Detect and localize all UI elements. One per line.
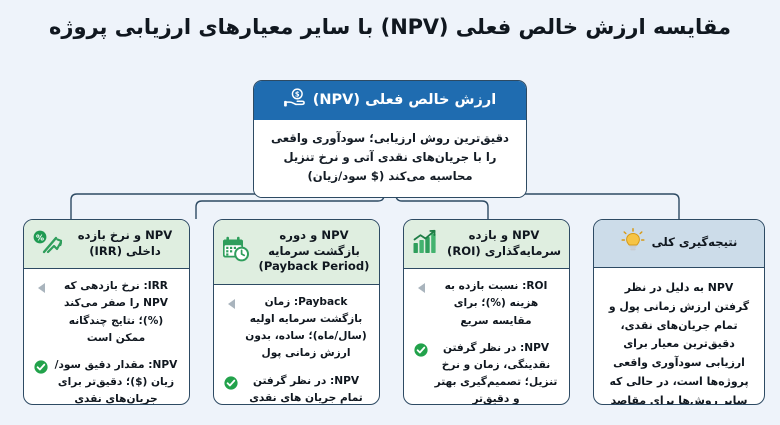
svg-text:%: % [36,233,44,242]
check-circle-icon [414,343,428,357]
card-roi-header: NPV و بازده سرمایه‌گذاری (ROI) [404,220,569,269]
list-item: NPV: مقدار دقیق سود/زیان ($)؛ دقیق‌تر بر… [34,357,179,405]
card-irr-header: % NPV و نرخ بازده داخلی (IRR) [24,220,189,269]
card-roi-body: ROI: نسبت بازده به هزینه (%)؛ برای مقایس… [404,269,569,405]
root-node-npv: $ ارزش خالص فعلی (NPV) دقیق‌ترین روش ارز… [253,80,527,198]
card-payback-title: NPV و دوره بازگشت سرمایه (Payback Period… [257,228,371,275]
root-node-description: دقیق‌ترین روش ارزیابی؛ سودآوری واقعی را … [254,120,526,197]
hand-holding-dollar-icon: $ [284,88,306,112]
list-item: IRR: نرخ بازدهی که NPV را صفر می‌کند (%)… [34,278,179,347]
list-item: ROI: نسبت بازده به هزینه (%)؛ برای مقایس… [414,278,559,329]
card-irr-body: IRR: نرخ بازدهی که NPV را صفر می‌کند (%)… [24,269,189,405]
card-payback-header: NPV و دوره بازگشت سرمایه (Payback Period… [214,220,379,285]
calendar-clock-icon [222,236,250,266]
card-irr[interactable]: % NPV و نرخ بازده داخلی (IRR) IRR: نرخ ب… [23,219,190,405]
list-item-text: IRR: نرخ بازدهی که NPV را صفر می‌کند (%)… [53,278,179,347]
bar-chart-growth-icon [412,229,440,259]
list-item: NPV: در نظر گرفتن تمام جریان های نقدی آت… [224,373,369,405]
list-item: NPV: در نظر گرفتن نقدینگی، زمان و نرخ تن… [414,340,559,405]
card-roi[interactable]: NPV و بازده سرمایه‌گذاری (ROI) ROI: نسبت… [403,219,570,405]
card-roi-title: NPV و بازده سرمایه‌گذاری (ROI) [447,228,561,259]
page-title: مقایسه ارزش خالص فعلی (NPV) با سایر معیا… [0,14,780,40]
check-circle-icon [224,376,238,390]
list-item: Payback: زمان بازگشت سرمایه اولیه (سال/م… [224,294,369,363]
root-node-title: ارزش خالص فعلی (NPV) [313,92,496,108]
card-conclusion-title: نتیجه‌گیری کلی [652,235,738,251]
lightbulb-icon [621,228,645,258]
card-conclusion-header: نتیجه‌گیری کلی [594,220,764,268]
list-item-text: NPV: مقدار دقیق سود/زیان ($)؛ دقیق‌تر بر… [53,357,179,405]
card-conclusion-body: NPV به دلیل در نظر گرفتن ارزش زمانی پول … [594,268,764,405]
percent-arrow-up-icon: % [32,229,62,259]
card-payback[interactable]: NPV و دوره بازگشت سرمایه (Payback Period… [213,219,380,405]
triangle-bullet-icon [34,281,48,295]
triangle-bullet-icon [414,281,428,295]
list-item-text: ROI: نسبت بازده به هزینه (%)؛ برای مقایس… [433,278,559,329]
svg-text:$: $ [295,91,300,99]
check-circle-icon [34,360,48,374]
card-irr-title: NPV و نرخ بازده داخلی (IRR) [69,228,181,259]
list-item-text: NPV: در نظر گرفتن نقدینگی، زمان و نرخ تن… [433,340,559,405]
card-payback-body: Payback: زمان بازگشت سرمایه اولیه (سال/م… [214,285,379,405]
infographic-canvas: مقایسه ارزش خالص فعلی (NPV) با سایر معیا… [0,0,780,425]
triangle-bullet-icon [224,297,238,311]
card-conclusion[interactable]: نتیجه‌گیری کلی NPV به دلیل در نظر گرفتن … [593,219,765,405]
list-item-text: NPV: در نظر گرفتن تمام جریان های نقدی آت… [243,373,369,405]
root-node-header: $ ارزش خالص فعلی (NPV) [254,81,526,120]
conclusion-text: NPV به دلیل در نظر گرفتن ارزش زمانی پول … [604,277,754,405]
list-item-text: Payback: زمان بازگشت سرمایه اولیه (سال/م… [243,294,369,363]
